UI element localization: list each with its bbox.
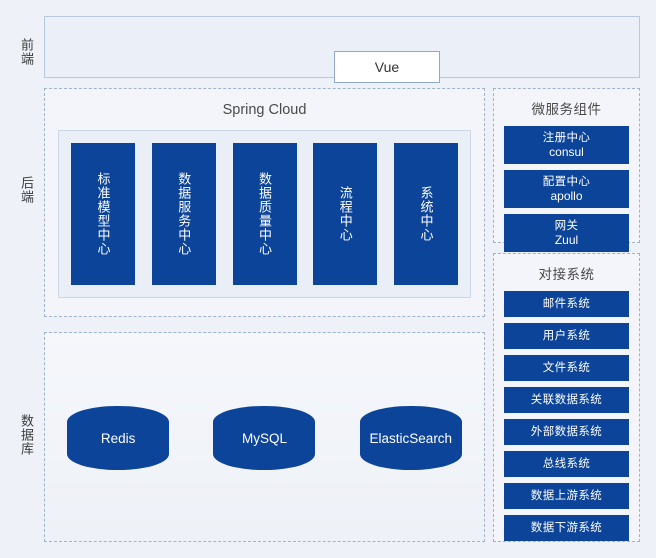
architecture-diagram: 前端 后端 数据库 Vue Spring Cloud 标准模型中心 数据服务中心… xyxy=(0,0,656,558)
external-system-chip[interactable]: 文件系统 xyxy=(504,355,629,381)
database-region: Redis MySQL ElasticSearch xyxy=(44,332,485,542)
external-system-chip[interactable]: 关联数据系统 xyxy=(504,387,629,413)
datastore-cylinder[interactable]: ElasticSearch xyxy=(360,406,462,470)
spring-cloud-inner-panel: 标准模型中心 数据服务中心 数据质量中心 流程中心 系统中心 xyxy=(58,130,471,298)
tier-label-backend: 后端 xyxy=(6,160,46,220)
frontend-band: Vue xyxy=(44,16,640,78)
chip-label: 配置中心 xyxy=(543,176,591,188)
external-system-chip[interactable]: 数据下游系统 xyxy=(504,515,629,541)
service-card[interactable]: 数据质量中心 xyxy=(233,143,297,285)
chip-label: 网关 xyxy=(555,220,579,232)
external-system-chip[interactable]: 用户系统 xyxy=(504,323,629,349)
tier-label-database: 数据库 xyxy=(6,400,46,470)
service-card-row: 标准模型中心 数据服务中心 数据质量中心 流程中心 系统中心 xyxy=(71,143,458,285)
datastore-cylinder[interactable]: Redis xyxy=(67,406,169,470)
panel-title-external: 对接系统 xyxy=(494,263,639,283)
external-system-chip[interactable]: 外部数据系统 xyxy=(504,419,629,445)
chip-sublabel: consul xyxy=(506,145,627,159)
service-card[interactable]: 标准模型中心 xyxy=(71,143,135,285)
datastore-cylinder[interactable]: MySQL xyxy=(213,406,315,470)
external-system-chip[interactable]: 邮件系统 xyxy=(504,291,629,317)
microservice-chip[interactable]: 配置中心 apollo xyxy=(504,170,629,208)
vue-box[interactable]: Vue xyxy=(334,51,440,83)
chip-sublabel: Zuul xyxy=(506,233,627,247)
spring-cloud-title: Spring Cloud xyxy=(45,102,484,118)
backend-region: Spring Cloud 标准模型中心 数据服务中心 数据质量中心 流程中心 系… xyxy=(44,88,485,317)
microservice-chip[interactable]: 注册中心 consul xyxy=(504,126,629,164)
tier-label-frontend: 前端 xyxy=(6,24,46,80)
service-card[interactable]: 系统中心 xyxy=(394,143,458,285)
microservice-components-panel: 微服务组件 注册中心 consul 配置中心 apollo 网关 Zuul xyxy=(493,88,640,243)
external-system-chip[interactable]: 数据上游系统 xyxy=(504,483,629,509)
external-systems-panel: 对接系统 邮件系统 用户系统 文件系统 关联数据系统 外部数据系统 总线系统 数… xyxy=(493,253,640,542)
datastore-row: Redis MySQL ElasticSearch xyxy=(45,406,484,470)
microservice-chip[interactable]: 网关 Zuul xyxy=(504,214,629,252)
external-item-list: 邮件系统 用户系统 文件系统 关联数据系统 外部数据系统 总线系统 数据上游系统… xyxy=(494,291,639,549)
external-system-chip[interactable]: 总线系统 xyxy=(504,451,629,477)
panel-title-microservice: 微服务组件 xyxy=(494,98,639,118)
service-card[interactable]: 流程中心 xyxy=(313,143,377,285)
service-card[interactable]: 数据服务中心 xyxy=(152,143,216,285)
microservice-item-list: 注册中心 consul 配置中心 apollo 网关 Zuul xyxy=(494,126,639,260)
chip-label: 注册中心 xyxy=(543,132,591,144)
chip-sublabel: apollo xyxy=(506,189,627,203)
